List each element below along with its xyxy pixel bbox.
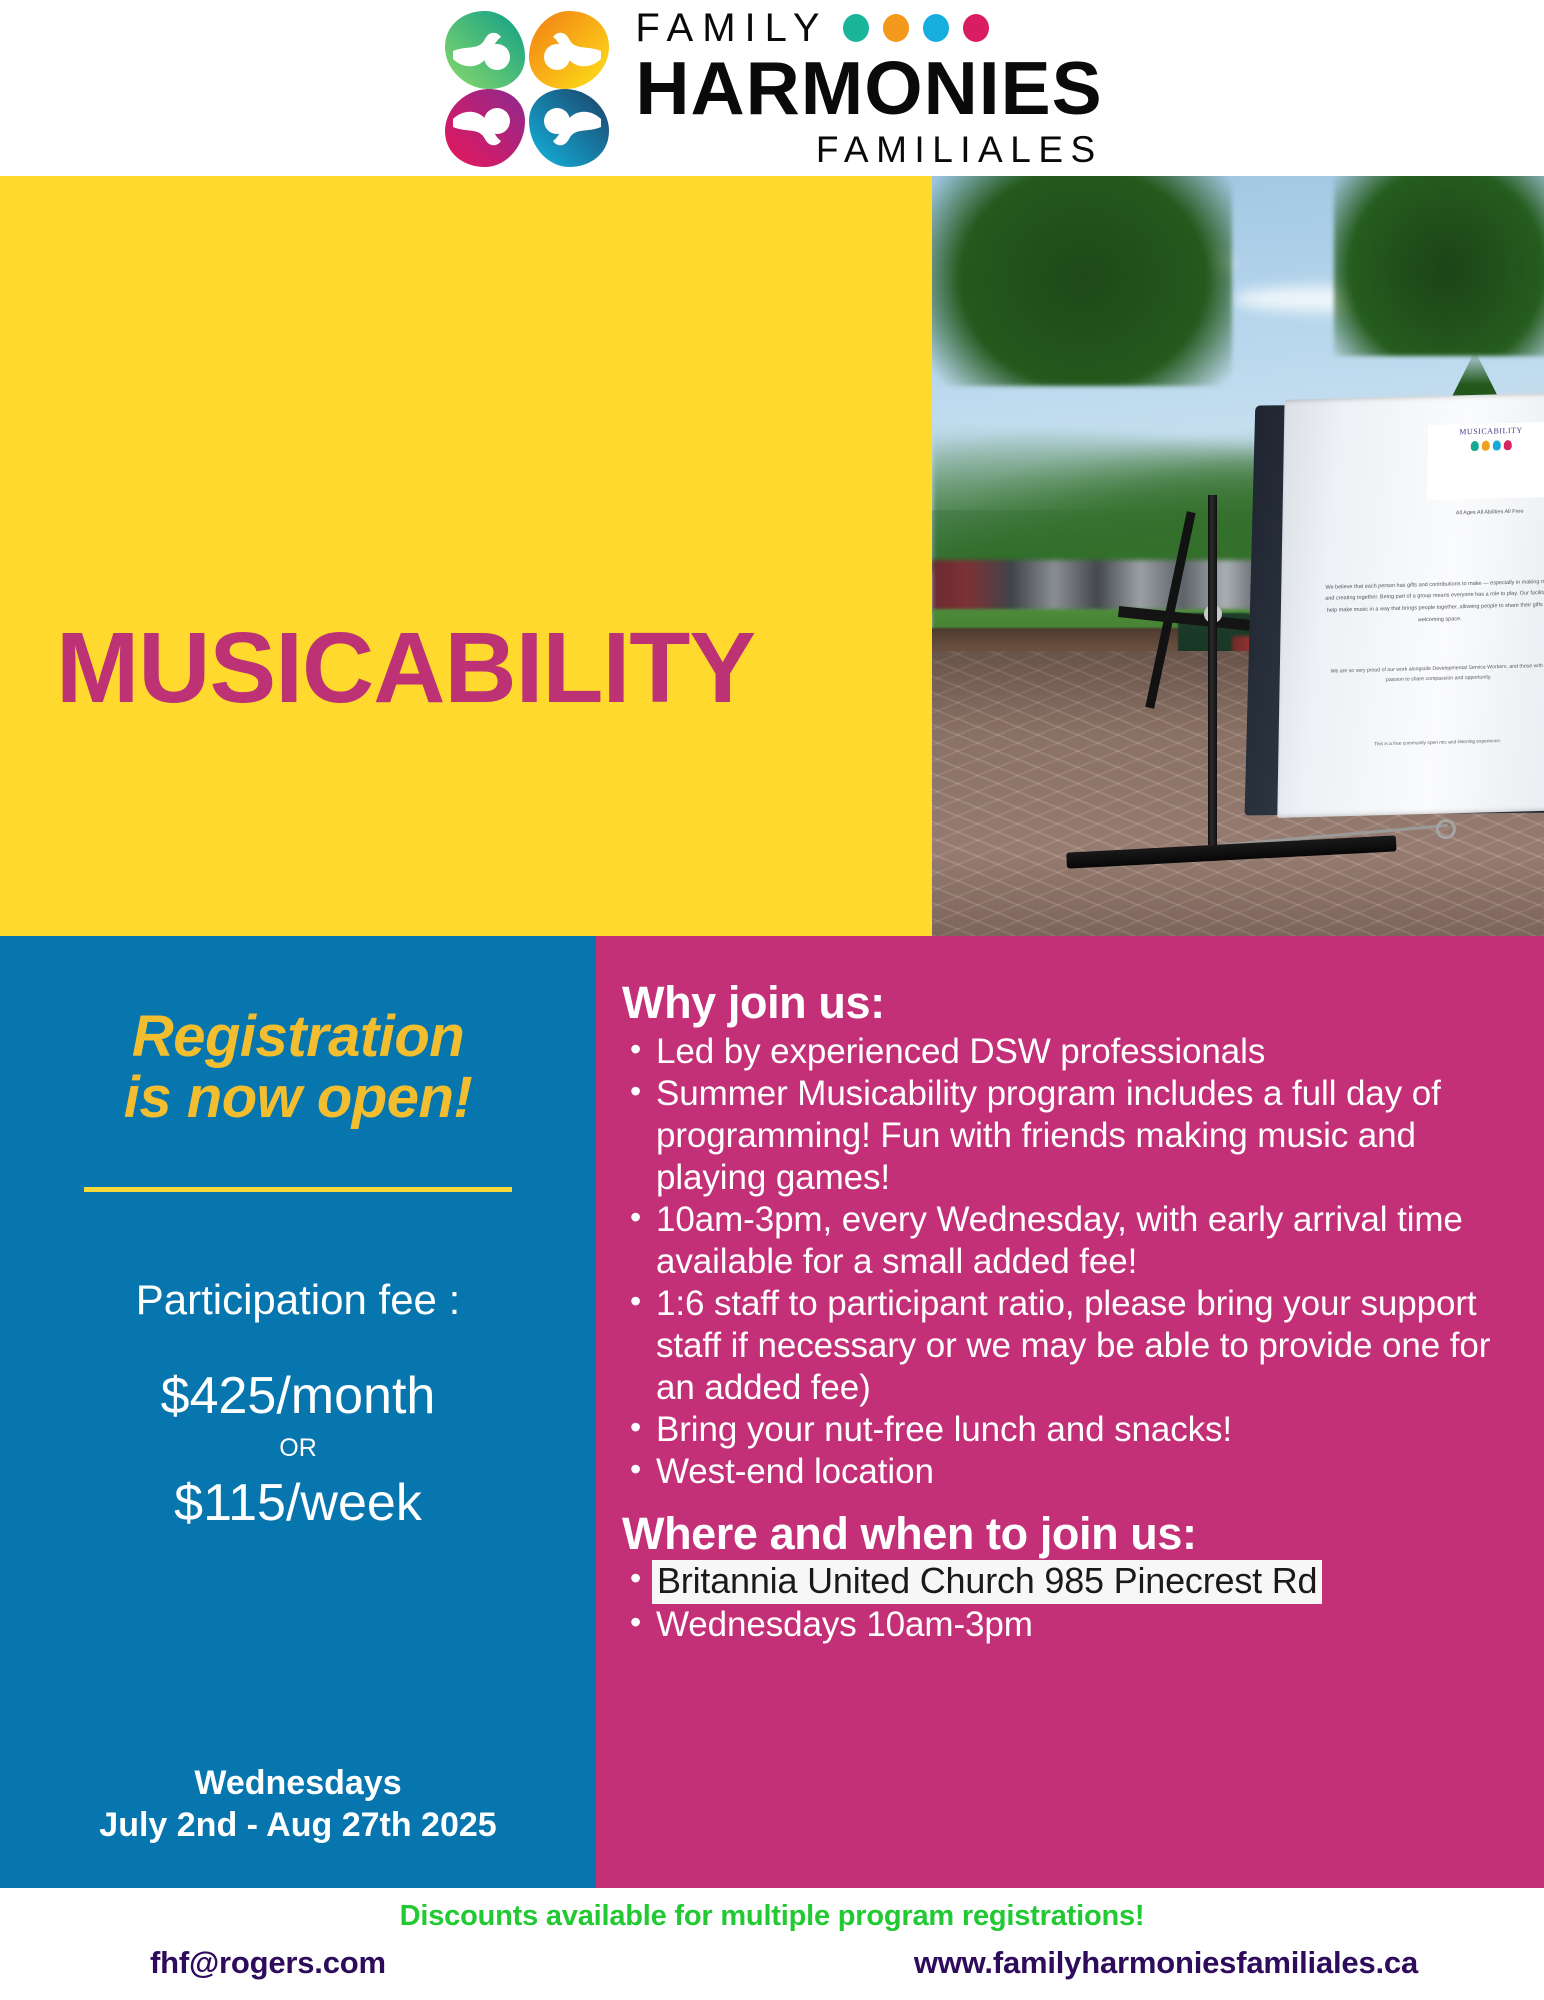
- page-doc-body2: We are so very proud of our work alongsi…: [1321, 661, 1544, 689]
- dot-teal-icon: [843, 14, 869, 42]
- tree-canopy-left: [932, 176, 1232, 386]
- brand-wordmark: FAMILY HARMONIES FAMILIALES: [635, 8, 1102, 168]
- poster-footer: Discounts available for multiple program…: [0, 1888, 1544, 2000]
- page-dot-cyan-icon: [1492, 441, 1500, 451]
- stand-post: [1208, 495, 1217, 845]
- list-item: 1:6 staff to participant ratio, please b…: [622, 1283, 1530, 1409]
- page-doc-title: MUSICABILITY: [1428, 426, 1544, 438]
- details-panel: Why join us: Led by experienced DSW prof…: [596, 936, 1544, 1888]
- registration-headline-line2: is now open!: [34, 1067, 562, 1128]
- registration-panel: Registration is now open! Participation …: [0, 936, 596, 1888]
- fee-weekly: $115/week: [34, 1473, 562, 1533]
- schedule-day: Wednesdays: [34, 1763, 562, 1804]
- schedule-dates: Wednesdays July 2nd - Aug 27th 2025: [34, 1763, 562, 1888]
- location-highlight: Britannia United Church 985 Pinecrest Rd: [652, 1560, 1322, 1604]
- page-doc-note: This is a free community open mic and li…: [1332, 736, 1542, 751]
- registration-headline: Registration is now open!: [34, 1006, 562, 1129]
- fee-or-label: OR: [34, 1434, 562, 1463]
- brand-dots: [843, 14, 989, 42]
- binder-page: MUSICABILITY All Ages All Abilities All …: [1277, 392, 1544, 818]
- hero-yellow-panel: MUSICABILITY: [0, 176, 932, 936]
- fee-monthly: $425/month: [34, 1366, 562, 1426]
- page-dot-teal-icon: [1470, 441, 1478, 451]
- discounts-note: Discounts available for multiple program…: [0, 1900, 1544, 1933]
- page-doc-subtitle: All Ages All Abilities All Free: [1432, 506, 1544, 519]
- why-join-heading: Why join us:: [622, 980, 1530, 1025]
- brand-logo: FAMILY HARMONIES FAMILIALES: [441, 5, 1102, 171]
- dot-orange-icon: [883, 14, 909, 42]
- list-item: Bring your nut-free lunch and snacks!: [622, 1409, 1530, 1451]
- page-dot-magenta-icon: [1503, 441, 1511, 451]
- divider: [84, 1187, 512, 1192]
- page-dot-orange-icon: [1481, 441, 1489, 451]
- page-doc-body: We believe that each person has gifts an…: [1322, 577, 1544, 629]
- music-stand-photo: MUSICABILITY All Ages All Abilities All …: [932, 176, 1544, 936]
- contact-website[interactable]: www.familyharmoniesfamiliales.ca: [914, 1945, 1418, 1981]
- brand-harmonies-text: HARMONIES: [635, 50, 1102, 127]
- list-item: Summer Musicability program includes a f…: [622, 1073, 1530, 1199]
- contact-row: fhf@rogers.com www.familyharmoniesfamili…: [0, 1945, 1544, 1981]
- schedule-range: July 2nd - Aug 27th 2025: [34, 1805, 562, 1846]
- registration-headline-line1: Registration: [34, 1006, 562, 1067]
- where-when-list: Britannia United Church 985 Pinecrest Rd…: [622, 1560, 1530, 1646]
- tree-canopy-right: [1334, 176, 1544, 356]
- list-item-location: Britannia United Church 985 Pinecrest Rd: [622, 1560, 1530, 1604]
- dot-cyan-icon: [923, 14, 949, 42]
- page-logo: MUSICABILITY: [1427, 423, 1544, 502]
- hero-band: MUSICABILITY MUSICABIL: [0, 176, 1544, 936]
- content-band: Registration is now open! Participation …: [0, 936, 1544, 1888]
- participation-fee-label: Participation fee :: [34, 1276, 562, 1324]
- list-item: West-end location: [622, 1451, 1530, 1493]
- page-title: MUSICABILITY: [56, 618, 755, 718]
- brand-familiales-text: FAMILIALES: [816, 131, 1103, 168]
- list-item: 10am-3pm, every Wednesday, with early ar…: [622, 1199, 1530, 1283]
- hero-photo: MUSICABILITY All Ages All Abilities All …: [932, 176, 1544, 936]
- poster-header: FAMILY HARMONIES FAMILIALES: [0, 0, 1544, 176]
- brand-family-text: FAMILY: [635, 8, 828, 48]
- where-when-heading: Where and when to join us:: [622, 1511, 1530, 1556]
- why-join-list: Led by experienced DSW professionals Sum…: [622, 1031, 1530, 1493]
- list-item: Led by experienced DSW professionals: [622, 1031, 1530, 1073]
- four-people-flower-logo-icon: [441, 5, 613, 171]
- brand-line-family: FAMILY: [635, 8, 988, 48]
- page-logo-art: [1427, 440, 1544, 453]
- dot-magenta-icon: [963, 14, 989, 42]
- list-item-time: Wednesdays 10am-3pm: [622, 1604, 1530, 1646]
- contact-email[interactable]: fhf@rogers.com: [150, 1945, 386, 1981]
